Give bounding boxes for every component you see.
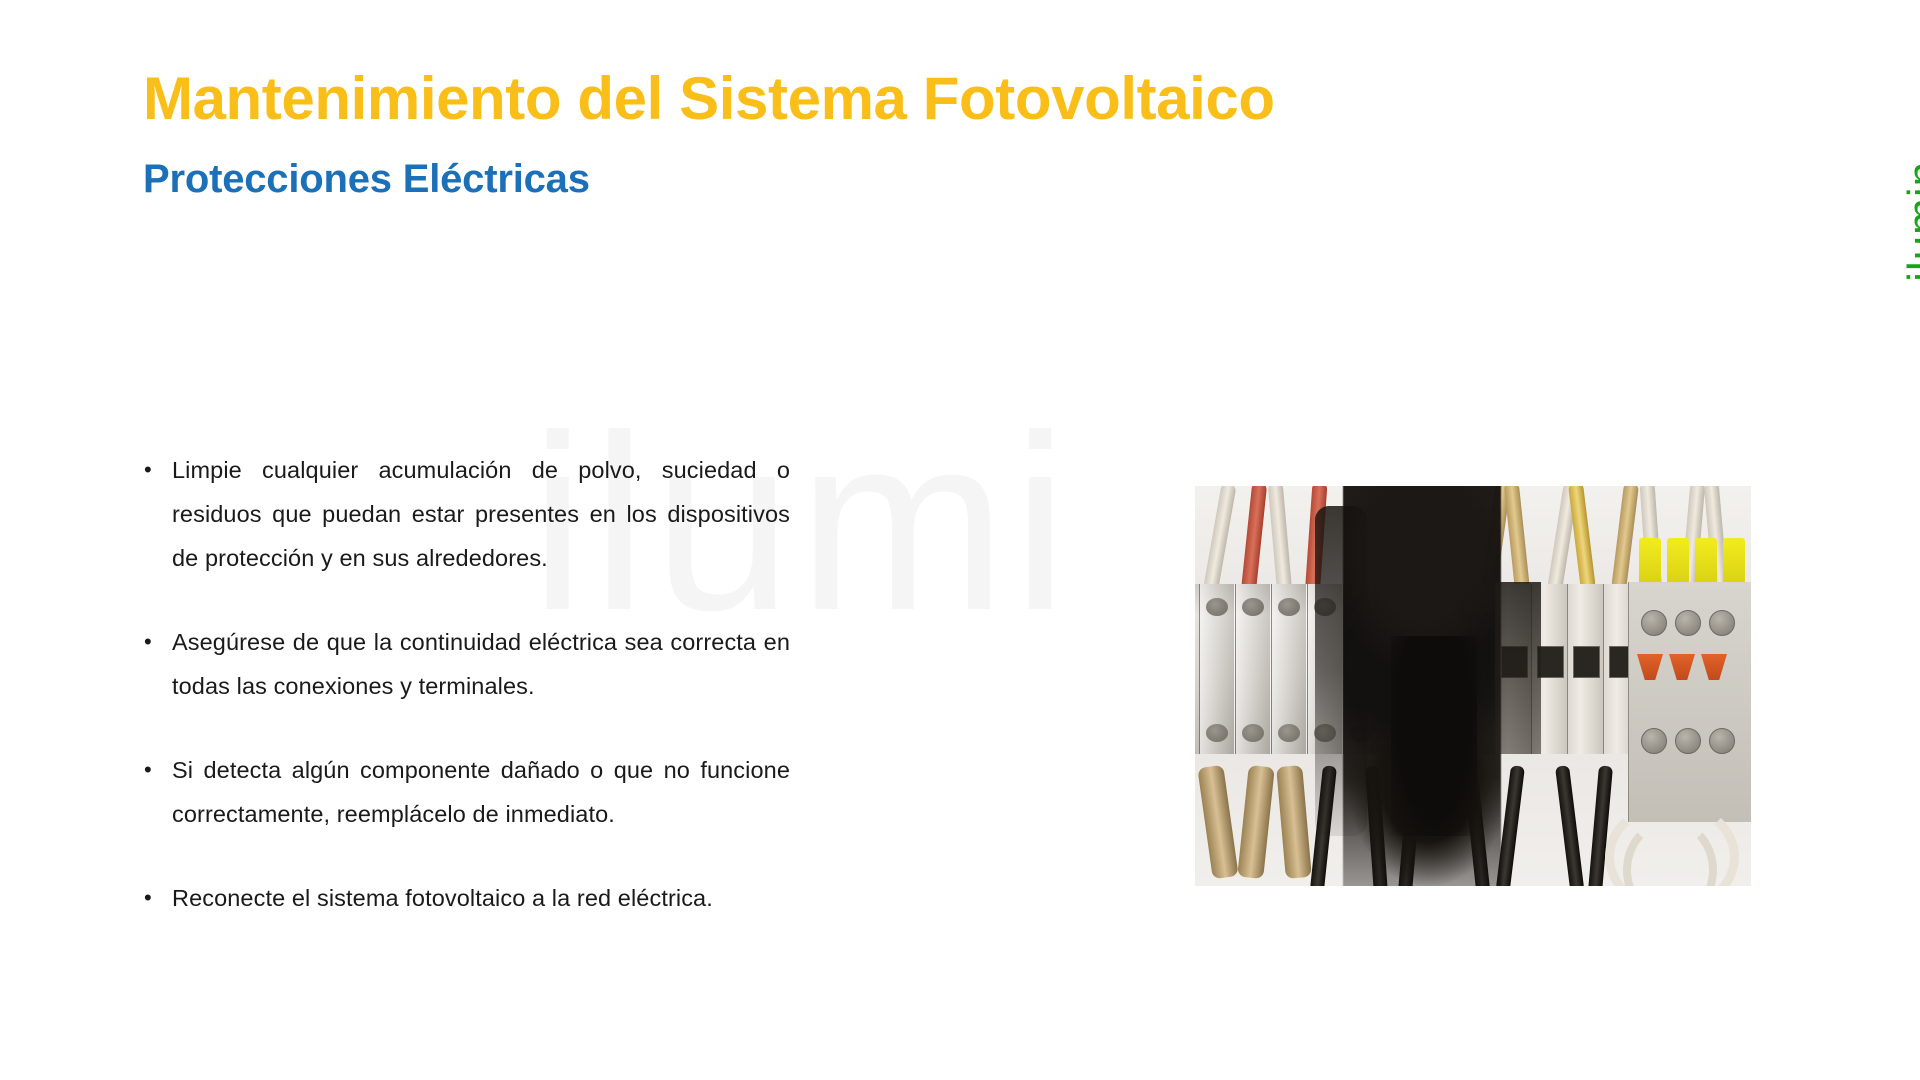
screw-4 [1641,728,1667,754]
lever-orange-1 [1637,654,1663,680]
list-item-text: Limpie cualquier acumulación de polvo, s… [172,448,790,580]
list-item: • Limpie cualquier acumulación de polvo,… [138,448,790,580]
bullet-point-icon: • [138,748,172,792]
screw-1 [1641,610,1667,636]
list-item-text: Asegúrese de que la continuidad eléctric… [172,620,790,708]
lever-orange-2 [1669,654,1695,680]
ferrule-yellow-4 [1723,538,1745,584]
bullet-point-icon: • [138,620,172,664]
burned-electrical-panel-photo [1195,486,1751,886]
ferrule-yellow-3 [1695,538,1717,584]
breaker-3 [1567,584,1603,754]
photo-content [1195,486,1751,886]
page-subtitle: Protecciones Eléctricas [143,155,590,203]
ferrule-yellow-2 [1667,538,1689,584]
lever-orange-3 [1701,654,1727,680]
screw-5 [1675,728,1701,754]
list-item: • Si detecta algún componente dañado o q… [138,748,790,836]
terminal-block-2 [1235,584,1271,754]
screw-3 [1709,610,1735,636]
page-title: Mantenimiento del Sistema Fotovoltaico [143,66,1275,132]
bullet-list: • Limpie cualquier acumulación de polvo,… [138,448,790,920]
screw-6 [1709,728,1735,754]
screw-2 [1675,610,1701,636]
brand-logo-vertical: ilumin [1902,161,1920,282]
bullet-point-icon: • [138,448,172,492]
list-item: • Reconecte el sistema fotovoltaico a la… [138,876,790,920]
terminal-block-1 [1199,584,1235,754]
right-terminal-block [1628,582,1751,822]
bullet-point-icon: • [138,876,172,920]
list-item-text: Si detecta algún componente dañado o que… [172,748,790,836]
list-item-text: Reconecte el sistema fotovoltaico a la r… [172,876,790,920]
burned-core [1391,636,1477,836]
soot-stain [1495,582,1541,754]
list-item: • Asegúrese de que la continuidad eléctr… [138,620,790,708]
terminal-block-3 [1271,584,1307,754]
ferrule-yellow-1 [1639,538,1661,584]
slide: ilumi Mantenimiento del Sistema Fotovolt… [0,0,1920,1080]
